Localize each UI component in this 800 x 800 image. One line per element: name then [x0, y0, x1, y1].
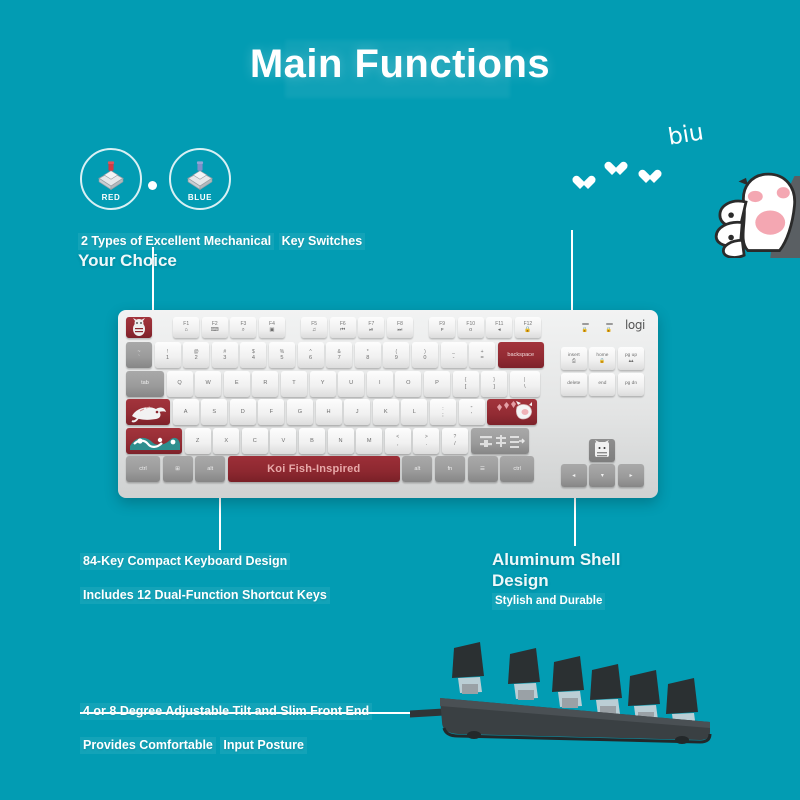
infographic-canvas: Main Functions RED BLU	[0, 0, 800, 800]
key-g-label: G	[298, 409, 302, 416]
key-u[interactable]: U	[338, 371, 364, 397]
key-period-bot: .	[426, 441, 428, 448]
key-j[interactable]: J	[344, 399, 370, 425]
callout-text-aluminum: Aluminum Shell Design Stylish and Durabl…	[492, 549, 620, 610]
key-x-label: X	[224, 438, 228, 445]
key-delete-label: delete	[567, 381, 580, 387]
key-delete[interactable]: delete	[561, 373, 587, 396]
key-f1-label: F1	[183, 322, 189, 328]
key-b-label: B	[310, 438, 314, 445]
logi-brand-logo: logi	[625, 318, 645, 332]
key-l-label: L	[413, 409, 416, 416]
key-bracket-right[interactable]: }]	[481, 371, 507, 397]
key-f3-sub: ⌕	[242, 328, 245, 334]
key-a[interactable]: A	[173, 399, 199, 425]
key-backtick-bot: `	[138, 355, 140, 362]
key-slash-bot: /	[454, 441, 456, 448]
biu-text: biu	[666, 119, 705, 150]
nav-row-bottom: delete end pg dn	[561, 373, 644, 396]
key-semicolon-top: :	[442, 406, 443, 413]
key-quote[interactable]: "'	[459, 399, 485, 425]
key-8-bot: 8	[366, 355, 369, 362]
key-f10-sub: ᴏ	[469, 328, 472, 334]
keyboard-side-profile	[410, 636, 790, 756]
callout-dot-switches	[148, 181, 157, 190]
key-k-label: K	[384, 409, 388, 416]
key-spacebar[interactable]: Koi Fish-Inspired	[228, 456, 400, 482]
switches-headline: Your Choice	[78, 250, 365, 271]
key-q-label: Q	[177, 380, 181, 387]
key-z-label: Z	[196, 438, 199, 445]
caps-lock-led: 🔒	[578, 323, 592, 333]
key-n-label: N	[339, 438, 343, 445]
key-0[interactable]: )0	[412, 342, 438, 368]
key-bracket-left[interactable]: {[	[453, 371, 479, 397]
key-f3-label: F3	[240, 322, 246, 328]
key-c[interactable]: C	[242, 428, 268, 454]
key-f12[interactable]: F12🔒	[515, 317, 541, 338]
key-o[interactable]: O	[395, 371, 421, 397]
keyboard-row-home: A S D F G H J K L :; "'	[126, 399, 650, 425]
key-period[interactable]: >.	[413, 428, 439, 454]
key-comma-bot: ,	[397, 441, 399, 448]
key-f9[interactable]: F9ᴘ	[429, 317, 455, 338]
key-v[interactable]: V	[270, 428, 296, 454]
key-p-label: P	[435, 380, 439, 387]
key-f2-label: F2	[212, 322, 218, 328]
key-y[interactable]: Y	[310, 371, 336, 397]
key-2-top: @	[194, 349, 199, 356]
key-menu[interactable]: ☰	[468, 456, 498, 482]
key-4-bot: 4	[252, 355, 255, 362]
cartoon-cat-paw-icon	[690, 148, 800, 258]
key-esc[interactable]	[126, 317, 152, 338]
key-pgdn-label: pg dn	[625, 381, 637, 387]
key-e[interactable]: E	[224, 371, 250, 397]
switches-line-1: 2 Types of Excellent Mechanical	[78, 233, 274, 250]
key-fn-label: fn	[448, 466, 453, 473]
key-5-top: %	[280, 349, 284, 356]
key-f4-sub: ▣	[269, 328, 274, 334]
key-b[interactable]: B	[299, 428, 325, 454]
key-6-top: ^	[309, 349, 311, 356]
key-w[interactable]: W	[195, 371, 221, 397]
key-f7-sub: ⏯	[369, 328, 373, 334]
key-4[interactable]: $4	[240, 342, 266, 368]
compact-line-2: Includes 12 Dual-Function Shortcut Keys	[80, 587, 330, 604]
key-equal[interactable]: +=	[469, 342, 495, 368]
key-f-label: F	[270, 409, 273, 416]
key-s-label: S	[212, 409, 216, 416]
keyboard-row-function: F1⌂ F2⌨ F3⌕ F4▣ F5♫ F6⏮ F7⏯ F8⏭ F9ᴘ F10ᴏ…	[126, 317, 650, 338]
key-d-label: D	[241, 409, 245, 416]
key-0-top: )	[424, 349, 426, 356]
key-equal-top: +	[481, 349, 484, 356]
key-comma[interactable]: <,	[385, 428, 411, 454]
key-insert[interactable]: insert⎙	[561, 347, 587, 370]
key-insert-sub-icon: ⎙	[572, 359, 576, 365]
arrow-left-icon: ◂	[572, 472, 575, 479]
key-q[interactable]: Q	[167, 371, 193, 397]
key-f5[interactable]: F5♫	[301, 317, 327, 338]
key-t[interactable]: T	[281, 371, 307, 397]
key-shift-right[interactable]	[471, 428, 529, 454]
key-u-label: U	[349, 380, 353, 387]
key-alt-left-label: alt	[207, 466, 213, 473]
callout-line-aluminum-top	[571, 230, 573, 322]
key-n[interactable]: N	[328, 428, 354, 454]
key-w-label: W	[206, 380, 211, 387]
key-1[interactable]: !1	[155, 342, 181, 368]
key-minus-top: _	[452, 349, 455, 356]
key-backspace[interactable]: backspace	[498, 342, 544, 368]
key-quote-top: "	[471, 406, 473, 413]
key-5[interactable]: %5	[269, 342, 295, 368]
key-f12-lock-icon: 🔒	[524, 328, 531, 334]
key-ctrl-left-label: ctrl	[139, 466, 146, 473]
key-d[interactable]: D	[230, 399, 256, 425]
key-h-label: H	[327, 409, 331, 416]
key-f7-label: F7	[368, 322, 374, 328]
key-ctrl-right[interactable]: ctrl	[500, 456, 534, 482]
key-p[interactable]: P	[424, 371, 450, 397]
key-o-label: O	[406, 380, 410, 387]
key-ctrl-left[interactable]: ctrl	[126, 456, 160, 482]
key-r[interactable]: R	[252, 371, 278, 397]
key-m-label: M	[367, 438, 372, 445]
aluminum-line-2: Design	[492, 570, 620, 591]
key-f7[interactable]: F7⏯	[358, 317, 384, 338]
keyboard-top-view: logi 🔒 🔒	[118, 310, 658, 498]
key-bracket-right-top: }	[493, 377, 495, 384]
key-pgup-sub-icon: ▴▴	[629, 359, 634, 365]
key-f[interactable]: F	[258, 399, 284, 425]
key-9[interactable]: (9	[383, 342, 409, 368]
key-bracket-left-top: {	[465, 377, 467, 384]
switch-badge-red-label: RED	[102, 193, 121, 202]
heart-icon	[572, 176, 586, 189]
key-3-bot: 3	[223, 355, 226, 362]
key-f8-label: F8	[397, 322, 403, 328]
switch-badge-red: RED	[80, 148, 142, 210]
callout-text-tilt: 4 or 8 Degree Adjustable Tilt and Slim F…	[80, 702, 372, 754]
tilt-line-3: Input Posture	[220, 737, 307, 754]
key-arrow-up[interactable]	[589, 439, 615, 462]
key-1-top: !	[167, 349, 168, 356]
key-shift-left[interactable]	[126, 428, 182, 454]
key-enter[interactable]	[487, 399, 537, 425]
key-menu-icon: ☰	[480, 466, 485, 473]
key-x[interactable]: X	[213, 428, 239, 454]
heart-icon	[604, 162, 620, 177]
key-caps-lock[interactable]	[126, 399, 170, 425]
spacebar-label: Koi Fish-Inspired	[267, 466, 360, 473]
switches-line-2: Key Switches	[279, 233, 366, 250]
key-m[interactable]: M	[356, 428, 382, 454]
switch-badge-blue: BLUE	[169, 148, 231, 210]
key-f9-sub: ᴘ	[441, 328, 444, 334]
nav-cluster: insert⎙ home🔒 pg up▴▴ delete end pg dn	[561, 347, 644, 398]
tilt-line-2: Provides Comfortable	[80, 737, 216, 754]
key-backtick-top: ~	[138, 349, 141, 356]
key-3-top: #	[223, 349, 226, 356]
compact-line-1: 84-Key Compact Keyboard Design	[80, 553, 290, 570]
key-2-bot: 2	[195, 355, 198, 362]
key-f3[interactable]: F3⌕	[230, 317, 256, 338]
key-slash-top: ?	[454, 434, 457, 441]
key-7-bot: 7	[338, 355, 341, 362]
key-h[interactable]: H	[316, 399, 342, 425]
key-ctrl-right-label: ctrl	[513, 466, 520, 473]
key-f11-label: F11	[495, 322, 503, 328]
key-f6-sub: ⏮	[340, 328, 345, 334]
key-7[interactable]: &7	[326, 342, 352, 368]
key-f9-label: F9	[439, 322, 445, 328]
key-alt-right-label: alt	[414, 466, 420, 473]
key-f6-label: F6	[340, 322, 346, 328]
key-arrow-right[interactable]: ▸	[618, 464, 644, 487]
key-8-top: *	[367, 349, 369, 356]
key-home[interactable]: home🔒	[589, 347, 615, 370]
key-s[interactable]: S	[201, 399, 227, 425]
key-bracket-left-bot: [	[465, 384, 467, 391]
arrow-key-cluster: ◂ ▾ ▸	[561, 439, 644, 490]
key-tab[interactable]: tab	[126, 371, 164, 397]
key-period-top: >	[425, 434, 428, 441]
key-f11[interactable]: F11◂	[486, 317, 512, 338]
mechanical-switch-blue-icon	[183, 158, 217, 192]
key-windows-icon: ⊞	[175, 466, 180, 473]
key-pgdn[interactable]: pg dn	[618, 373, 644, 396]
aluminum-line-3: Stylish and Durable	[492, 593, 605, 610]
key-0-bot: 0	[423, 355, 426, 362]
callout-text-compact: 84-Key Compact Keyboard Design Includes …	[80, 552, 330, 604]
key-r-label: R	[263, 380, 267, 387]
key-home-lock-icon: 🔒	[599, 359, 605, 365]
key-f2[interactable]: F2⌨	[202, 317, 228, 338]
key-1-bot: 1	[166, 355, 169, 362]
page-title: Main Functions	[0, 42, 800, 87]
key-l[interactable]: L	[401, 399, 427, 425]
callout-text-switches: 2 Types of Excellent Mechanical Key Swit…	[78, 232, 365, 271]
key-9-bot: 9	[395, 355, 398, 362]
key-f12-label: F12	[524, 322, 533, 328]
key-i-label: I	[379, 380, 381, 387]
key-bracket-right-bot: ]	[493, 384, 495, 391]
key-backspace-label: backspace	[507, 352, 534, 359]
key-j-label: J	[356, 409, 359, 416]
key-slash[interactable]: ?/	[442, 428, 468, 454]
key-5-bot: 5	[280, 355, 283, 362]
key-end[interactable]: end	[589, 373, 615, 396]
key-2[interactable]: @2	[183, 342, 209, 368]
key-fn[interactable]: fn	[435, 456, 465, 482]
key-a-label: A	[184, 409, 188, 416]
aluminum-line-1: Aluminum Shell	[492, 549, 620, 570]
key-3[interactable]: #3	[212, 342, 238, 368]
key-pgup[interactable]: pg up▴▴	[618, 347, 644, 370]
key-arrow-left[interactable]: ◂	[561, 464, 587, 487]
key-f10[interactable]: F10ᴏ	[458, 317, 484, 338]
key-minus-bot: -	[453, 355, 455, 362]
tilt-line-1: 4 or 8 Degree Adjustable Tilt and Slim F…	[80, 703, 372, 720]
key-c-label: C	[253, 438, 257, 445]
key-8[interactable]: *8	[355, 342, 381, 368]
key-f1[interactable]: F1⌂	[173, 317, 199, 338]
key-e-label: E	[235, 380, 239, 387]
nav-row-top: insert⎙ home🔒 pg up▴▴	[561, 347, 644, 370]
key-f8-sub: ⏭	[397, 328, 402, 334]
key-end-label: end	[598, 381, 606, 387]
key-backslash-top: |	[524, 377, 525, 384]
mechanical-switch-red-icon	[94, 158, 128, 192]
key-z[interactable]: Z	[185, 428, 211, 454]
key-quote-bot: '	[471, 412, 472, 419]
arrow-right-icon: ▸	[629, 472, 632, 479]
key-alt-left[interactable]: alt	[195, 456, 225, 482]
key-7-top: &	[337, 349, 340, 356]
key-minus[interactable]: _-	[441, 342, 467, 368]
key-t-label: T	[292, 380, 295, 387]
key-backslash-bot: \	[524, 384, 526, 391]
key-equal-bot: =	[480, 355, 483, 362]
key-comma-top: <	[396, 434, 399, 441]
key-f5-sub: ♫	[312, 328, 316, 334]
key-semicolon-bot: ;	[442, 412, 444, 419]
key-v-label: V	[282, 438, 286, 445]
key-backslash[interactable]: |\	[510, 371, 540, 397]
key-arrow-down[interactable]: ▾	[589, 464, 615, 487]
key-k[interactable]: K	[373, 399, 399, 425]
key-g[interactable]: G	[287, 399, 313, 425]
key-i[interactable]: I	[367, 371, 393, 397]
key-9-top: (	[396, 349, 398, 356]
key-f11-sub: ◂	[498, 328, 501, 334]
key-f2-sub: ⌨	[211, 328, 219, 334]
key-tab-label: tab	[141, 380, 149, 387]
key-backtick[interactable]: ~`	[126, 342, 152, 368]
key-6-bot: 6	[309, 355, 312, 362]
key-f8[interactable]: F8⏭	[387, 317, 413, 338]
heart-icon	[638, 170, 653, 184]
key-windows[interactable]: ⊞	[163, 456, 193, 482]
key-4-top: $	[252, 349, 255, 356]
key-f1-sub: ⌂	[184, 328, 187, 334]
key-f5-label: F5	[311, 322, 317, 328]
scroll-lock-led: 🔒	[602, 323, 616, 333]
key-semicolon[interactable]: :;	[430, 399, 456, 425]
key-f6[interactable]: F6⏮	[330, 317, 356, 338]
key-f4-label: F4	[269, 322, 275, 328]
key-alt-right[interactable]: alt	[402, 456, 432, 482]
arrow-down-icon: ▾	[601, 472, 604, 479]
switch-badge-blue-label: BLUE	[188, 193, 212, 202]
key-y-label: Y	[321, 380, 325, 387]
key-6[interactable]: ^6	[298, 342, 324, 368]
key-f4[interactable]: F4▣	[259, 317, 285, 338]
key-f10-label: F10	[466, 322, 475, 328]
